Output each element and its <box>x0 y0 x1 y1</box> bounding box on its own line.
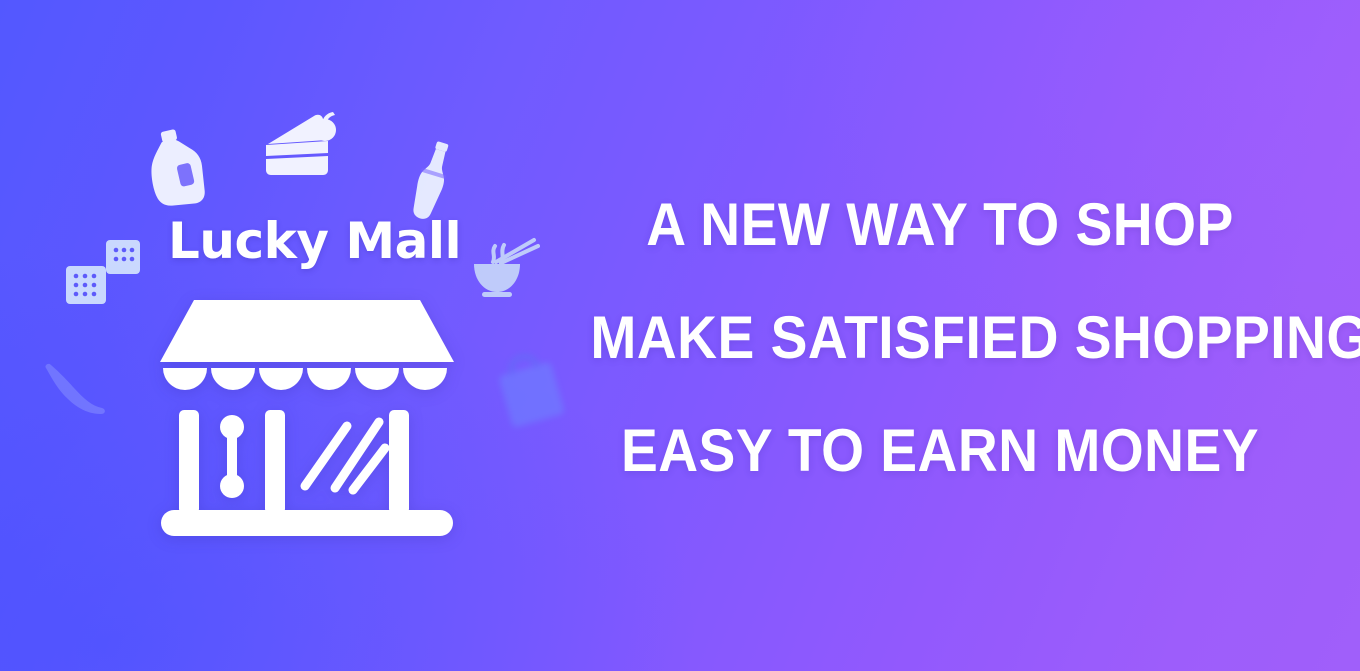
slogan-line-1: A NEW WAY TO SHOP <box>590 168 1289 281</box>
slogan-line-3: EASY TO EARN MONEY <box>590 394 1289 507</box>
promo-banner: Lucky Mall <box>0 0 1360 671</box>
noodle-bowl-icon <box>470 232 546 304</box>
biscuit-icon <box>58 232 144 314</box>
slogan-line-2: MAKE SATISFIED SHOPPING <box>590 281 1289 394</box>
cake-slice-icon <box>262 110 346 182</box>
storefront-illustration <box>157 296 457 544</box>
brand-name: Lucky Mall <box>168 216 461 266</box>
brand-cluster: Lucky Mall <box>0 0 600 671</box>
banana-icon <box>40 356 112 418</box>
slogan-block: A NEW WAY TO SHOP MAKE SATISFIED SHOPPIN… <box>560 168 1320 507</box>
milk-jug-icon <box>136 122 215 216</box>
